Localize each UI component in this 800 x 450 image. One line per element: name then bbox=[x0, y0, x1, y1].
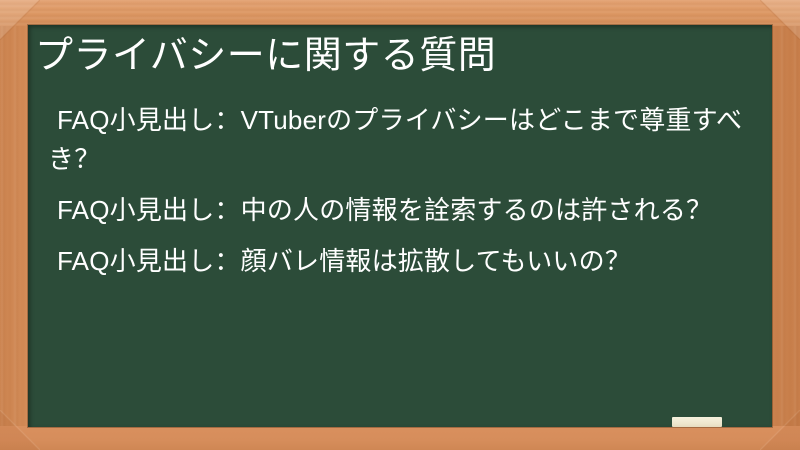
faq-list: FAQ小見出し：VTuberのプライバシーはどこまで尊重すべき？ FAQ小見出し… bbox=[48, 101, 748, 281]
list-item: FAQ小見出し：VTuberのプライバシーはどこまで尊重すべき？ bbox=[48, 101, 748, 179]
page-title: プライバシーに関する質問 bbox=[35, 33, 496, 81]
wooden-frame-bottom-rail bbox=[0, 426, 800, 450]
chalkboard-slide: プライバシーに関する質問 FAQ小見出し：VTuberのプライバシーはどこまで尊… bbox=[0, 0, 800, 450]
list-item: FAQ小見出し：顔バレ情報は拡散してもいいの？ bbox=[48, 242, 748, 281]
list-item: FAQ小見出し：中の人の情報を詮索するのは許される？ bbox=[48, 191, 748, 230]
chalk-piece bbox=[672, 417, 722, 427]
chalkboard-surface: プライバシーに関する質問 FAQ小見出し：VTuberのプライバシーはどこまで尊… bbox=[28, 25, 772, 427]
chalkboard-content: プライバシーに関する質問 FAQ小見出し：VTuberのプライバシーはどこまで尊… bbox=[28, 25, 772, 427]
wooden-frame-top-rail bbox=[0, 0, 800, 26]
